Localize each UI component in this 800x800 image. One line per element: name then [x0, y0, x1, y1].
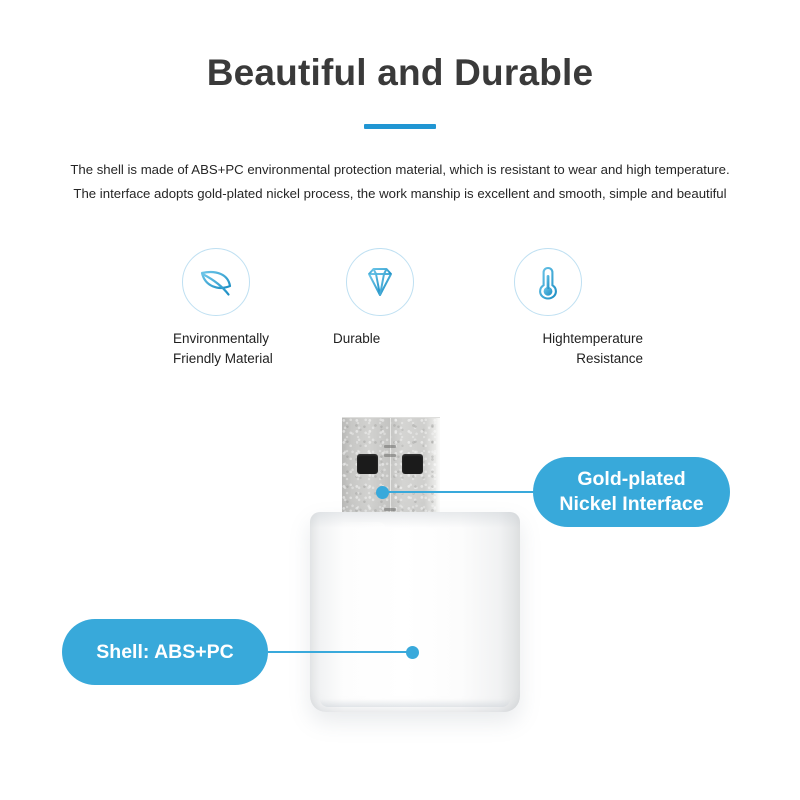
connector-contact-cutout	[357, 454, 378, 474]
shell-bottom-shading	[320, 699, 510, 707]
callout-marker-dot-shell	[406, 646, 419, 659]
title-accent-rule	[364, 124, 436, 129]
page-title: Beautiful and Durable	[0, 52, 800, 94]
description-text: The shell is made of ABS+PC environmenta…	[0, 158, 800, 206]
callout-leader-line-shell	[268, 651, 413, 653]
connector-contact-cutout	[402, 454, 423, 474]
connector-notch	[384, 445, 396, 448]
feature-high-temperature-resistance: Hightemperature Resistance	[495, 248, 655, 369]
feature-label: Durable	[333, 329, 493, 349]
thermometer-icon	[514, 248, 582, 316]
connector-notch	[384, 508, 396, 511]
usb-plastic-shell	[310, 512, 520, 712]
connector-edge-highlight	[436, 418, 440, 518]
usb-a-connector	[342, 417, 440, 517]
description-line-2: The interface adopts gold-plated nickel …	[0, 182, 800, 206]
feature-list: Environmentally Friendly Material	[173, 248, 673, 380]
callout-gold-plated-nickel-interface: Gold-plated Nickel Interface	[533, 457, 730, 527]
product-feature-page: Beautiful and Durable The shell is made …	[0, 0, 800, 800]
diamond-icon	[346, 248, 414, 316]
feature-label: Environmentally Friendly Material	[173, 329, 333, 369]
connector-notch	[384, 454, 396, 457]
callout-marker-dot-interface	[376, 486, 389, 499]
description-line-1: The shell is made of ABS+PC environmenta…	[0, 158, 800, 182]
callout-shell-material: Shell: ABS+PC	[62, 619, 268, 685]
connector-seam	[389, 418, 392, 518]
callout-leader-line-interface	[382, 491, 534, 493]
product-image-usb-drive	[280, 405, 520, 725]
feature-environmentally-friendly: Environmentally Friendly Material	[173, 248, 333, 369]
feature-durable: Durable	[333, 248, 493, 349]
feature-label: Hightemperature Resistance	[495, 329, 643, 369]
leaf-icon	[182, 248, 250, 316]
shell-highlight	[334, 522, 386, 700]
